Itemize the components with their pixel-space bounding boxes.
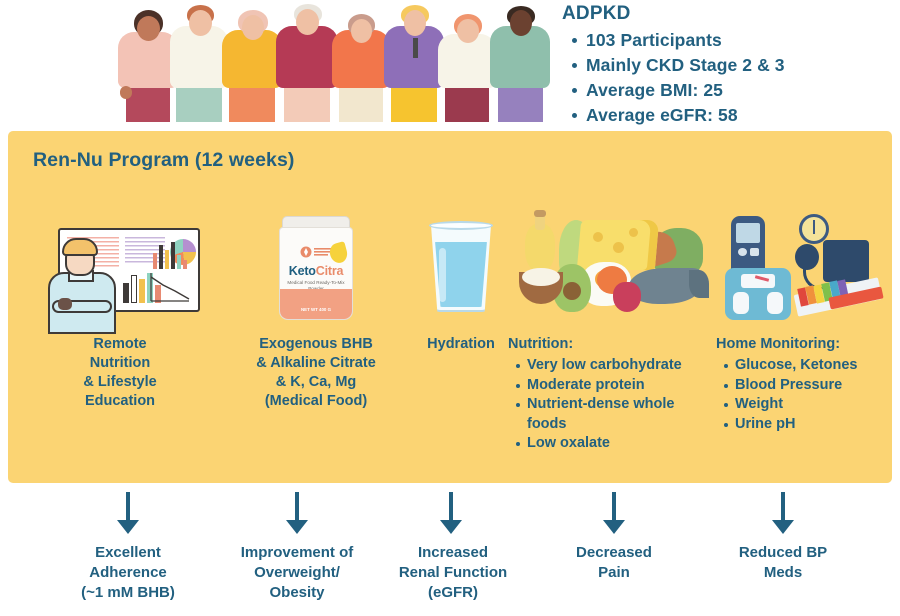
bullet-label: Nutrient-dense whole foods <box>527 395 713 434</box>
bullet-item: Moderate protein <box>508 376 713 396</box>
bullet-label: Very low carbohydrate <box>527 356 713 376</box>
outcome-line: Increased <box>378 543 528 563</box>
glucose-meter-button <box>750 248 759 256</box>
arrow-shaft <box>612 492 616 522</box>
cohort-item-label: Average eGFR: 58 <box>586 103 738 128</box>
ketocitra-supplement-jar: KetoCitra Medical Food Ready-To-Mix Powd… <box>220 209 412 327</box>
bullet-label: Urine pH <box>735 415 892 435</box>
avocado-pit <box>563 282 581 300</box>
arrow-shaft <box>781 492 785 522</box>
outcome-renal-function: Increased Renal Function (eGFR) <box>378 543 528 603</box>
santa-barbara-nutrients-logo <box>298 245 334 259</box>
outcome-line: Obesity <box>212 583 382 603</box>
outcome-line: Overweight/ <box>212 563 382 583</box>
pillar-hydration: Hydration <box>406 209 516 354</box>
person-legs <box>498 82 543 122</box>
person-head <box>137 16 160 41</box>
arrow-shaft <box>126 492 130 522</box>
outcome-line: Renal Function <box>378 563 528 583</box>
brand-citra: Citra <box>316 264 343 278</box>
fish-tail <box>689 270 709 298</box>
person-figure <box>332 6 390 122</box>
down-arrow-icon <box>772 492 794 536</box>
scale-footpad <box>767 292 783 314</box>
glass-of-water <box>406 209 516 327</box>
cohort-title: ADPKD <box>562 3 892 25</box>
product-net-weight: NET WT 400 G <box>280 307 352 312</box>
person-legs <box>284 82 330 122</box>
down-arrow-icon <box>286 492 308 536</box>
line-chart-declining <box>149 271 191 303</box>
bullet-item: Very low carbohydrate <box>508 356 713 376</box>
bullet-item: Low oxalate <box>508 434 713 454</box>
person-head <box>296 9 319 35</box>
cheese-hole <box>613 242 624 253</box>
educator-hand <box>58 298 72 310</box>
person-head <box>510 10 532 36</box>
label-line: Education <box>83 392 156 411</box>
oil-bottle-cork <box>534 210 546 217</box>
outcome-line: (eGFR) <box>378 583 528 603</box>
person-figure <box>384 2 444 122</box>
bullet-icon <box>516 442 520 446</box>
outcome-line: Reduced BP <box>708 543 858 563</box>
person-necktie <box>413 38 418 58</box>
cohort-item-label: 103 Participants <box>586 28 722 53</box>
outcome-line: (~1 mM BHB) <box>48 583 208 603</box>
outcome-line: Adherence <box>48 563 208 583</box>
educator-with-charts-whiteboard-illustration <box>20 209 220 327</box>
bullet-item: Weight <box>716 395 892 415</box>
home-monitoring-devices <box>716 209 892 327</box>
water-glass <box>429 224 493 312</box>
educator-hair <box>62 238 98 256</box>
outcome-decreased-pain: Decreased Pain <box>539 543 689 583</box>
glucose-meter-screen <box>736 223 760 243</box>
pillar-medical-food: KetoCitra Medical Food Ready-To-Mix Powd… <box>220 209 412 411</box>
down-arrow-icon <box>117 492 139 536</box>
bullet-icon <box>516 403 520 407</box>
person-head <box>189 10 212 36</box>
person-legs <box>391 82 437 122</box>
down-arrow-icon <box>603 492 625 536</box>
person-head <box>351 19 372 43</box>
bullet-item: Blood Pressure <box>716 376 892 396</box>
outcome-weight-improvement: Improvement of Overweight/ Obesity <box>212 543 382 603</box>
cohort-item-label: Mainly CKD Stage 2 & 3 <box>586 53 785 78</box>
pillar-label-nutrition: Nutrition: <box>508 335 713 354</box>
chart-bar <box>131 275 137 303</box>
person-figure <box>438 6 496 122</box>
outcome-excellent-adherence: Excellent Adherence (~1 mM BHB) <box>48 543 208 603</box>
label-line: Hydration <box>427 335 495 354</box>
pillar-label-remote-education: Remote Nutrition & Lifestyle Education <box>83 335 156 411</box>
cohort-item: 103 Participants <box>562 28 892 53</box>
program-title: Ren-Nu Program (12 weeks) <box>33 149 295 172</box>
arrow-shaft <box>449 492 453 522</box>
person-legs <box>176 82 222 122</box>
label-line: & Lifestyle <box>83 373 156 392</box>
bullet-label: Moderate protein <box>527 376 713 396</box>
label-line: Remote <box>83 335 156 354</box>
chart-bar <box>159 245 163 269</box>
cohort-item-label: Average BMI: 25 <box>586 78 723 103</box>
declining-trend-line <box>149 271 191 303</box>
chart-bar <box>177 255 181 269</box>
down-arrow-icon <box>440 492 462 536</box>
brand-keto: Keto <box>289 264 316 278</box>
raspberry-icon <box>613 282 641 312</box>
bullet-icon <box>724 403 728 407</box>
bullet-item: Nutrient-dense whole foods <box>508 395 713 434</box>
bullet-label: Weight <box>735 395 892 415</box>
outcome-line: Meds <box>708 563 858 583</box>
bullet-item: Glucose, Ketones <box>716 356 892 376</box>
bullet-label: Blood Pressure <box>735 376 892 396</box>
label-line: Exogenous BHB <box>256 335 376 354</box>
infographic-root: ADPKD 103 Participants Mainly CKD Stage … <box>0 0 900 616</box>
outcome-line: Pain <box>539 563 689 583</box>
bullet-icon <box>516 364 520 368</box>
pillar-nutrition: Nutrition: Very low carbohydrate Moderat… <box>508 209 713 454</box>
arrow-head <box>286 520 308 534</box>
logo-mark <box>298 245 334 259</box>
bullet-label: Glucose, Ketones <box>735 356 892 376</box>
arrow-shaft <box>295 492 299 522</box>
bullet-icon <box>572 63 577 68</box>
bullet-item: Urine pH <box>716 415 892 435</box>
jar-bottom-band: NET WT 400 G <box>280 289 352 319</box>
label-line: Home Monitoring: <box>716 335 892 354</box>
label-line: & Alkaline Citrate <box>256 354 376 373</box>
cheese-hole <box>629 228 638 237</box>
bullet-icon <box>572 113 577 118</box>
bullet-icon <box>572 88 577 93</box>
pillar-label-home-monitoring: Home Monitoring: <box>716 335 892 354</box>
arrow-head <box>772 520 794 534</box>
program-panel: Ren-Nu Program (12 weeks) <box>8 131 892 483</box>
person-figure <box>170 2 228 122</box>
bullet-icon <box>724 384 728 388</box>
pillar-label-medical-food: Exogenous BHB & Alkaline Citrate & K, Ca… <box>256 335 376 411</box>
pillar-label-hydration: Hydration <box>427 335 495 354</box>
label-line: & K, Ca, Mg <box>256 373 376 392</box>
arrow-head <box>440 520 462 534</box>
chart-bar <box>123 283 129 303</box>
person-figure <box>490 2 550 122</box>
bullet-icon <box>516 384 520 388</box>
scale-footpad <box>733 292 749 314</box>
label-line: Nutrition: <box>508 335 713 354</box>
chart-bar <box>183 260 187 269</box>
chart-bar <box>165 250 169 269</box>
person-head <box>242 15 264 40</box>
device-group <box>717 210 892 326</box>
person-figure <box>118 4 178 122</box>
arrow-head <box>603 520 625 534</box>
cheese-hole <box>593 232 603 242</box>
cohort-item: Average BMI: 25 <box>562 78 892 103</box>
nutrition-bullet-list: Very low carbohydrate Moderate protein N… <box>508 356 713 454</box>
person-legs <box>339 84 383 122</box>
bullet-icon <box>572 38 577 43</box>
person-torso <box>276 26 338 88</box>
glucose-meter-button <box>738 248 747 256</box>
bp-bulb-icon <box>795 244 819 270</box>
food-group <box>511 210 711 326</box>
product-brand-name: KetoCitra <box>280 264 352 278</box>
person-head <box>404 10 426 36</box>
label-line: (Medical Food) <box>256 392 376 411</box>
person-figure <box>276 2 338 122</box>
bar-chart-small <box>151 239 191 269</box>
glass-rim <box>429 221 493 230</box>
bullet-icon <box>724 364 728 368</box>
chart-bar <box>153 253 157 269</box>
outcome-reduced-bp-meds: Reduced BP Meds <box>708 543 858 583</box>
outcome-line: Excellent <box>48 543 208 563</box>
person-figure <box>222 4 282 122</box>
jar-label-body: KetoCitra Medical Food Ready-To-Mix Powd… <box>279 227 353 320</box>
person-head <box>457 19 479 43</box>
cottage-cheese-contents <box>522 268 560 286</box>
cohort-item: Mainly CKD Stage 2 & 3 <box>562 53 892 78</box>
educator-figure <box>42 234 120 334</box>
glass-highlight <box>439 248 446 302</box>
person-legs <box>229 82 275 122</box>
label-line: Nutrition <box>83 354 156 373</box>
chart-bar <box>139 279 145 303</box>
keto-foods-collage <box>508 209 713 327</box>
outcome-line: Decreased <box>539 543 689 563</box>
cohort-item: Average eGFR: 58 <box>562 103 892 128</box>
bullet-label: Low oxalate <box>527 434 713 454</box>
pillar-remote-education: Remote Nutrition & Lifestyle Education <box>20 209 220 411</box>
chart-bar <box>171 242 175 269</box>
group-of-eight-adults-illustration <box>118 2 548 122</box>
monitoring-bullet-list: Glucose, Ketones Blood Pressure Weight U… <box>716 356 892 434</box>
olive-oil-bottle-icon <box>525 224 555 272</box>
bp-gauge-needle <box>813 220 815 234</box>
arrow-head <box>117 520 139 534</box>
bullet-icon <box>724 423 728 427</box>
outcome-line: Improvement of <box>212 543 382 563</box>
cohort-summary: ADPKD 103 Participants Mainly CKD Stage … <box>562 3 892 128</box>
person-hand <box>120 86 132 99</box>
jar-container: KetoCitra Medical Food Ready-To-Mix Powd… <box>279 216 353 320</box>
pillar-home-monitoring: Home Monitoring: Glucose, Ketones Blood … <box>716 209 892 434</box>
